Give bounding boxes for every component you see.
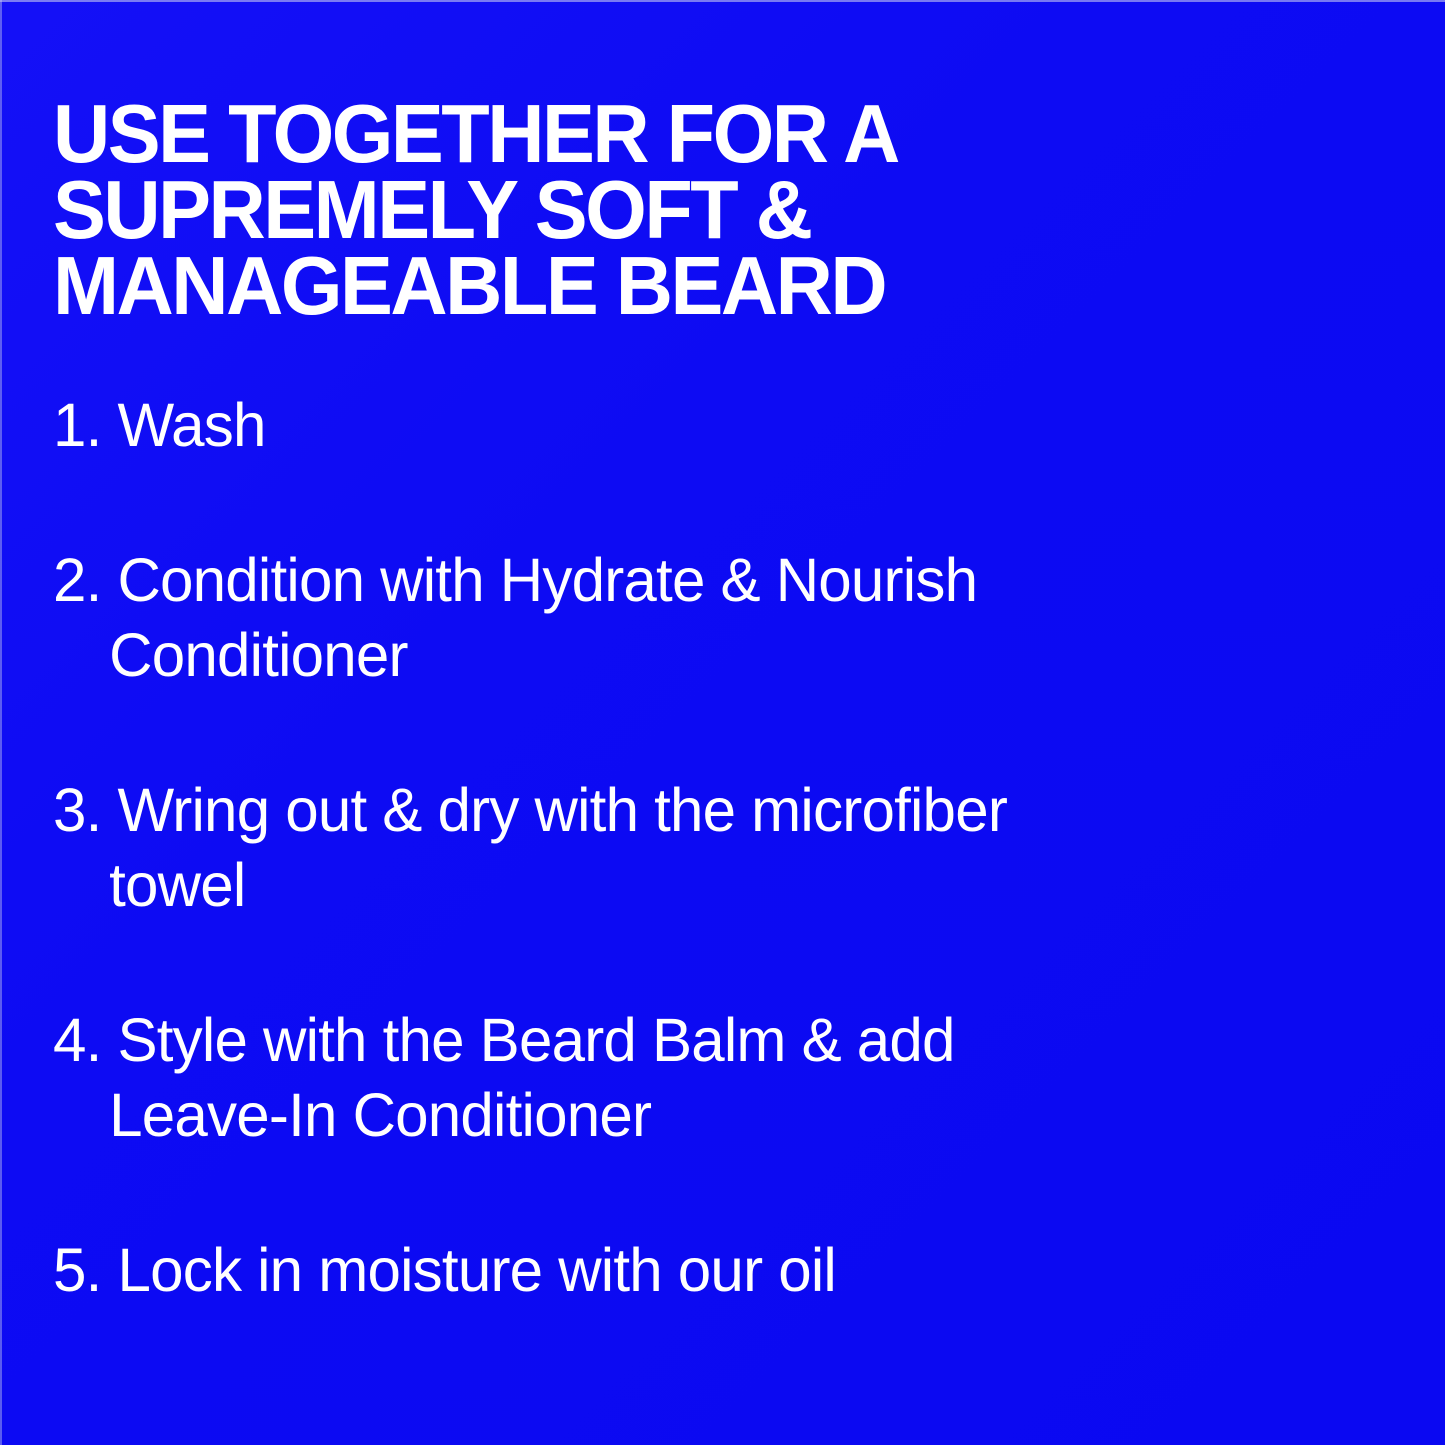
list-item: 2. Condition with Hydrate & Nourish Cond…	[53, 543, 1097, 693]
steps-list: 1. Wash 2. Condition with Hydrate & Nour…	[53, 388, 1113, 1308]
content-block: USE TOGETHER FOR A SUPREMELY SOFT & MANA…	[53, 96, 1385, 324]
top-edge-highlight	[0, 0, 1445, 2]
list-item: 5. Lock in moisture with our oil	[53, 1233, 1097, 1308]
step-number: 2.	[53, 546, 117, 614]
step-text: Style with the Beard Balm & add Leave-In…	[109, 1006, 955, 1149]
step-number: 1.	[53, 391, 117, 459]
step-number: 4.	[53, 1006, 117, 1074]
page-title: USE TOGETHER FOR A SUPREMELY SOFT & MANA…	[53, 96, 913, 324]
step-number: 3.	[53, 776, 117, 844]
left-edge-highlight	[0, 0, 2, 1445]
step-text: Wring out & dry with the microfiber towe…	[109, 776, 1007, 919]
step-text: Wash	[117, 391, 265, 459]
headline-line-2: SUPREMELY SOFT &	[53, 172, 913, 248]
instructions-poster: USE TOGETHER FOR A SUPREMELY SOFT & MANA…	[0, 0, 1445, 1445]
step-text: Condition with Hydrate & Nourish Conditi…	[109, 546, 977, 689]
list-item: 1. Wash	[53, 388, 1097, 463]
list-item: 3. Wring out & dry with the microfiber t…	[53, 773, 1097, 923]
step-number: 5.	[53, 1236, 117, 1304]
step-text: Lock in moisture with our oil	[117, 1236, 836, 1304]
list-item: 4. Style with the Beard Balm & add Leave…	[53, 1003, 1097, 1153]
headline-line-3: MANAGEABLE BEARD	[53, 248, 913, 324]
headline-line-1: USE TOGETHER FOR A	[53, 96, 913, 172]
